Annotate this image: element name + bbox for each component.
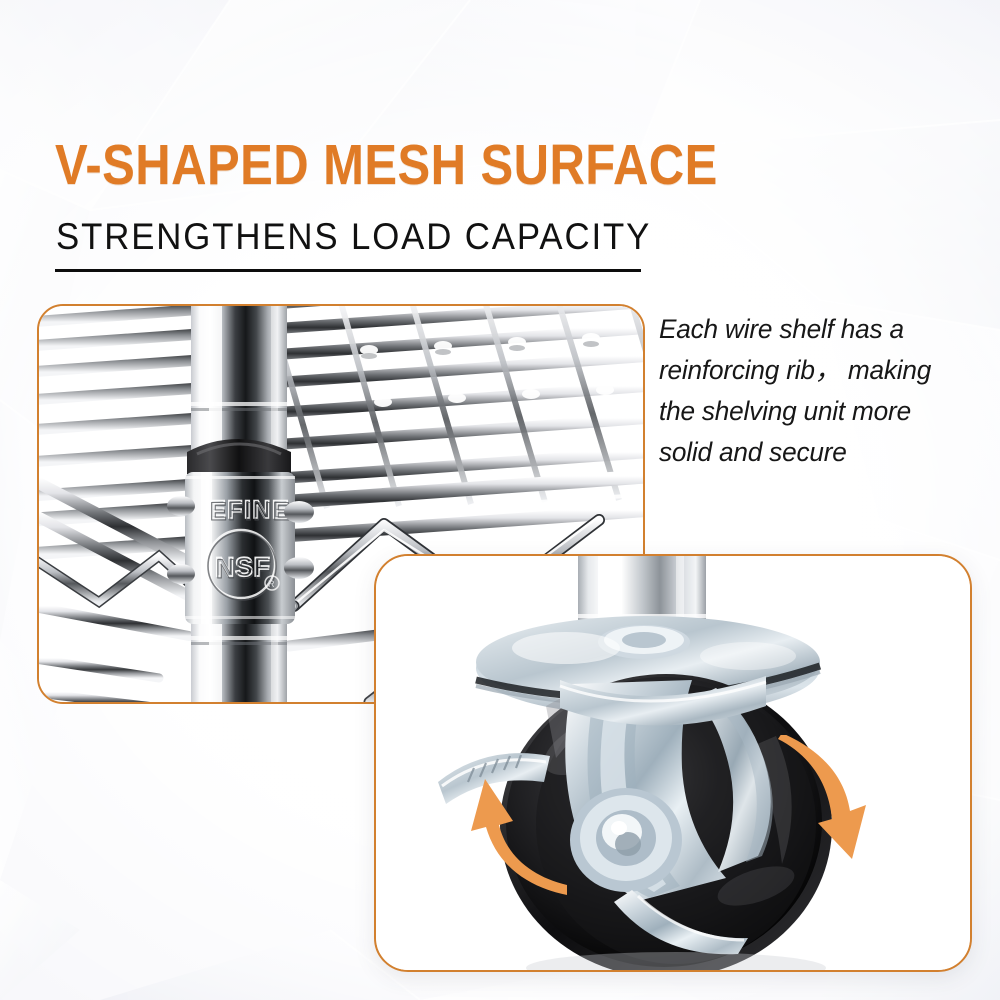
feature-callout-text: Each wire shelf has a reinforcing rib， m…: [659, 309, 969, 473]
swivel-arrow-left-icon: [455, 745, 585, 895]
title-divider-rule: [55, 269, 641, 272]
swivel-arrow-right-icon: [770, 735, 900, 885]
svg-text:NSF: NSF: [216, 554, 272, 584]
page-subtitle: STRENGTHENS LOAD CAPACITY: [56, 215, 651, 259]
svg-text:R: R: [268, 579, 275, 589]
page-title: V-SHAPED MESH SURFACE: [55, 134, 718, 196]
svg-text:EFINE: EFINE: [210, 498, 291, 526]
infographic-canvas: V-SHAPED MESH SURFACE STRENGTHENS LOAD C…: [0, 0, 1000, 1000]
